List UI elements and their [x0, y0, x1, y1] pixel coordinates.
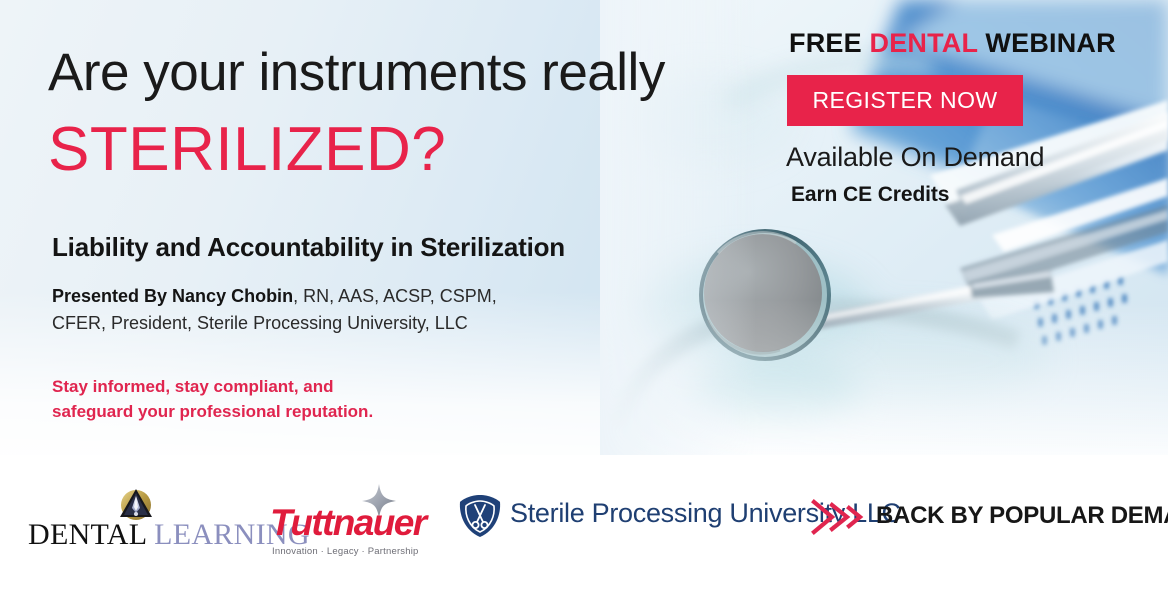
dl-word-dental: DENTAL	[28, 518, 146, 551]
triple-chevron-right-icon	[810, 498, 870, 536]
kicker-free: FREE	[789, 28, 862, 58]
ce-credits-text: Earn CE Credits	[791, 183, 949, 207]
page-title: Are your instruments really	[48, 42, 665, 103]
back-by-popular-demand: BACK BY POPULAR DEMAND!	[810, 496, 1150, 538]
shield-scissors-icon	[456, 492, 504, 540]
spu-logo[interactable]: Sterile Processing University LLC	[456, 492, 796, 548]
tagline-line-1: Stay informed, stay compliant, and	[52, 377, 334, 396]
tuttnauer-logo[interactable]: Tuttnauer Innovation · Legacy · Partners…	[270, 484, 432, 560]
webinar-promo-banner: Are your instruments really STERILIZED? …	[0, 0, 1168, 592]
tagline: Stay informed, stay compliant, and safeg…	[52, 374, 373, 424]
kicker-webinar: WEBINAR	[985, 28, 1115, 58]
tuttnauer-tagline: Innovation · Legacy · Partnership	[272, 546, 434, 557]
tagline-line-2: safeguard your professional reputation.	[52, 402, 373, 421]
logo-bar: DENTAL LEARNING Tuttnauer	[0, 478, 1168, 574]
presenter-credentials: , RN, AAS, ACSP, CSPM,	[293, 286, 497, 306]
register-now-label: REGISTER NOW	[813, 87, 998, 114]
presenter-info: Presented By Nancy Chobin, RN, AAS, ACSP…	[52, 283, 497, 337]
dental-learning-wordmark: DENTAL LEARNING	[28, 518, 252, 552]
presenter-affiliation: CFER, President, Sterile Processing Univ…	[52, 313, 468, 333]
presenter-name: Presented By Nancy Chobin	[52, 286, 293, 306]
triangle-emblem-icon	[116, 486, 156, 522]
kicker-dental: DENTAL	[870, 28, 978, 58]
register-now-button[interactable]: REGISTER NOW	[787, 75, 1023, 126]
tuttnauer-wordmark: Tuttnauer	[270, 502, 432, 544]
dental-instruments-photo	[600, 0, 1168, 470]
popular-demand-text: BACK BY POPULAR DEMAND!	[876, 502, 1168, 530]
subheadline: Liability and Accountability in Steriliz…	[52, 232, 565, 263]
dental-learning-logo[interactable]: DENTAL LEARNING	[28, 486, 252, 558]
webinar-kicker: FREE DENTAL WEBINAR	[789, 28, 1116, 59]
headline-sterilized: STERILIZED?	[48, 114, 446, 185]
availability-text: Available On Demand	[786, 142, 1044, 173]
